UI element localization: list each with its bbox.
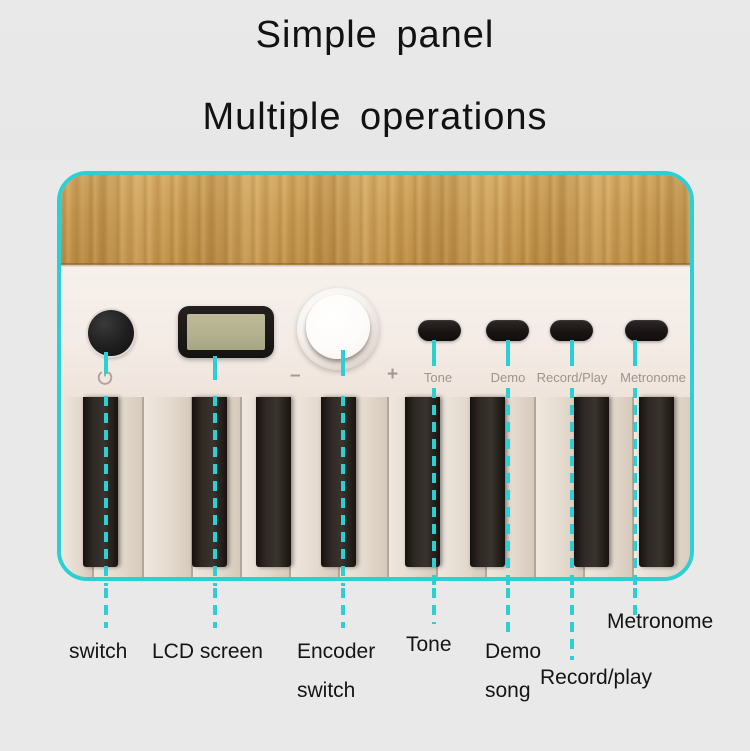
leader-line-tone-caption (432, 588, 436, 624)
black-key[interactable] (192, 397, 227, 567)
leader-line-tone-keys (432, 388, 436, 586)
metronome-button-label: Metronome (608, 370, 698, 385)
black-key[interactable] (256, 397, 291, 567)
leader-line-record-keys (570, 388, 574, 586)
leader-line-lcd-keys (213, 396, 217, 586)
leader-line-switch-caption (104, 588, 108, 628)
leader-line-lcd (213, 356, 217, 380)
tone-button[interactable] (418, 320, 461, 341)
caption-lcd-screen: LCD screen (152, 640, 263, 664)
lcd-screen-bezel (178, 306, 274, 358)
black-key[interactable] (83, 397, 118, 567)
leader-line-encoder (341, 350, 345, 376)
caption-encoder-2: switch (297, 679, 355, 703)
leader-line-lcd-caption (213, 588, 217, 628)
black-key[interactable] (321, 397, 356, 567)
caption-record-play: Record/play (540, 666, 652, 690)
wood-back-panel (61, 175, 690, 265)
encoder-knob[interactable] (297, 288, 379, 370)
leader-line-switch-keys (104, 396, 108, 586)
leader-line-encoder-keys (341, 396, 345, 586)
leader-line-encoder-caption (341, 588, 345, 628)
leader-line-demo (506, 340, 510, 366)
leader-line-demo-caption (506, 588, 510, 638)
tone-button-label: Tone (398, 370, 478, 385)
minus-sign-icon: – (290, 365, 301, 387)
headings-block: Simple panel Multiple operations (0, 0, 750, 160)
leader-line-record (570, 340, 574, 366)
leader-line-demo-keys (506, 388, 510, 586)
plus-sign-icon: + (387, 364, 398, 386)
demo-button[interactable] (486, 320, 529, 341)
record-play-button-label: Record/Play (530, 370, 614, 385)
caption-demo-song: Demo (485, 640, 541, 664)
heading-primary: Simple panel (0, 14, 750, 57)
metronome-button[interactable] (625, 320, 668, 341)
caption-demo-song-2: song (485, 679, 531, 703)
caption-metronome: Metronome (607, 610, 713, 634)
leader-line-record-caption (570, 588, 574, 660)
leader-line-tone (432, 340, 436, 366)
black-key[interactable] (639, 397, 674, 567)
black-key[interactable] (470, 397, 505, 567)
white-key[interactable] (144, 397, 193, 581)
encoder-knob-face (306, 295, 370, 359)
leader-line-switch (104, 352, 108, 374)
leader-line-metronome-keys (633, 388, 637, 586)
black-key[interactable] (574, 397, 609, 567)
caption-tone: Tone (406, 633, 452, 657)
caption-encoder: Encoder (297, 640, 375, 664)
lcd-screen-display (187, 314, 265, 350)
piano-keyboard (61, 397, 690, 581)
heading-secondary: Multiple operations (0, 96, 750, 139)
leader-line-metronome (633, 340, 637, 366)
caption-switch: switch (69, 640, 127, 664)
record-play-button[interactable] (550, 320, 593, 341)
power-switch-button[interactable] (88, 310, 134, 356)
